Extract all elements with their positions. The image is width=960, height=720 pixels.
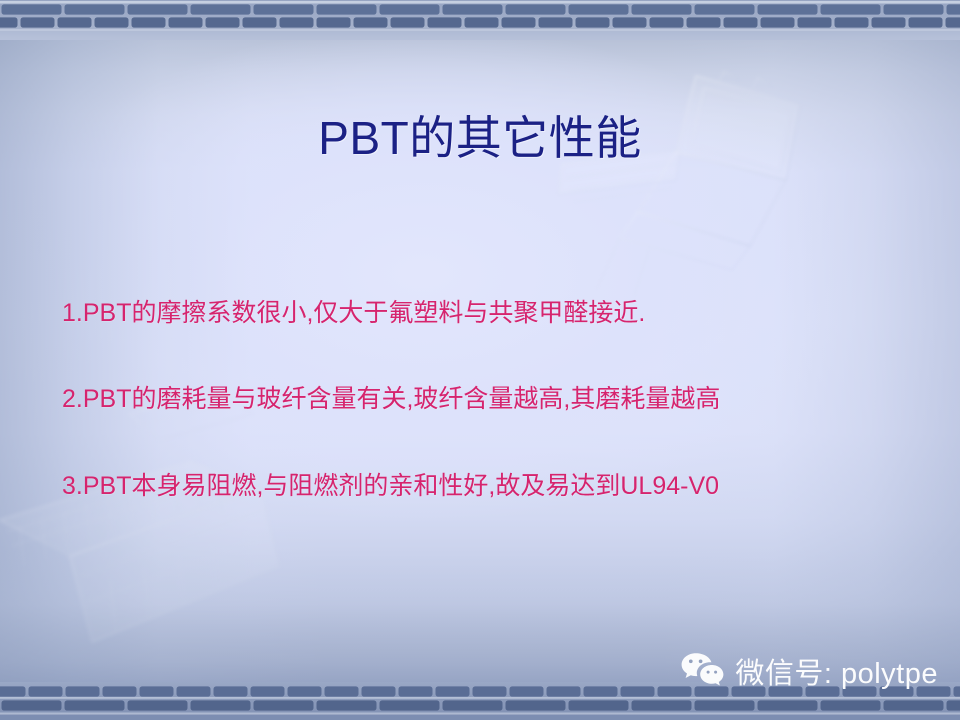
- wechat-icon: [679, 651, 725, 691]
- slide-body: 1.PBT的摩擦系数很小,仅大于氟塑料与共聚甲醛接近. 2.PBT的磨耗量与玻纤…: [62, 300, 920, 499]
- body-line-2: 2.PBT的磨耗量与玻纤含量有关,玻纤含量越高,其磨耗量越高: [62, 386, 920, 412]
- body-line-3: 3.PBT本身易阻燃,与阻燃剂的亲和性好,故及易达到UL94-V0: [62, 473, 920, 499]
- presentation-slide: PBT的其它性能 1.PBT的摩擦系数很小,仅大于氟塑料与共聚甲醛接近. 2.P…: [0, 0, 960, 720]
- wechat-id-label: 微信号: polytpe: [735, 650, 938, 692]
- body-line-1: 1.PBT的摩擦系数很小,仅大于氟塑料与共聚甲醛接近.: [62, 300, 920, 326]
- slide-title: PBT的其它性能: [0, 112, 960, 165]
- top-brick-border: [0, 0, 960, 40]
- wechat-watermark: 微信号: polytpe: [679, 650, 938, 692]
